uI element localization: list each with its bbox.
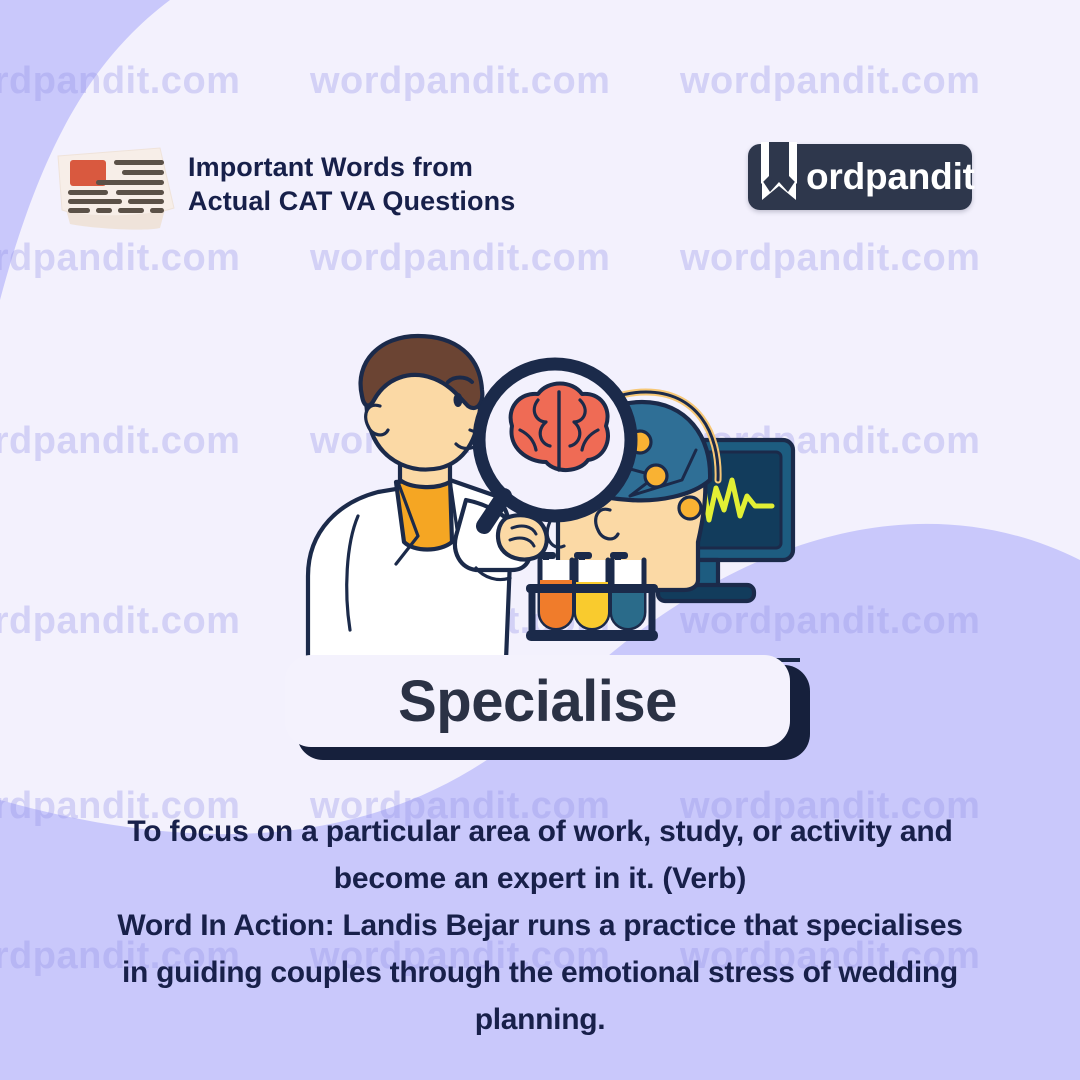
word-card-face: Specialise bbox=[285, 655, 790, 747]
doctor-examining-brain-illustration bbox=[300, 330, 800, 680]
logo-text: ordpandit bbox=[806, 144, 975, 210]
word-in-action-line1: Word In Action: Landis Bejar runs a prac… bbox=[18, 902, 1062, 949]
wordpandit-logo[interactable]: ordpandit bbox=[748, 144, 972, 210]
word-in-action-line2: in guiding couples through the emotional… bbox=[18, 949, 1062, 996]
definition-line2: become an expert in it. (Verb) bbox=[20, 855, 1060, 902]
word-card: Specialise bbox=[285, 655, 810, 760]
poster-canvas: wordpandit.com wordpandit.com wordpandit… bbox=[0, 0, 1080, 1080]
brain bbox=[511, 384, 608, 471]
page-title-line2: Actual CAT VA Questions bbox=[188, 184, 515, 218]
word-in-action-block: Word In Action: Landis Bejar runs a prac… bbox=[18, 902, 1062, 1043]
vocabulary-word: Specialise bbox=[398, 668, 677, 735]
newspaper-icon bbox=[48, 136, 188, 232]
page-title: Important Words from Actual CAT VA Quest… bbox=[188, 150, 515, 218]
page-title-line1: Important Words from bbox=[188, 152, 473, 182]
definition-line1: To focus on a particular area of work, s… bbox=[20, 808, 1060, 855]
word-in-action-line3: planning. bbox=[18, 996, 1062, 1043]
definition-block: To focus on a particular area of work, s… bbox=[20, 808, 1060, 902]
bookmark-w-icon bbox=[758, 140, 800, 204]
magnifying-glass bbox=[479, 364, 631, 526]
test-tube-rack bbox=[526, 552, 658, 641]
header: Important Words from Actual CAT VA Quest… bbox=[0, 60, 1080, 180]
